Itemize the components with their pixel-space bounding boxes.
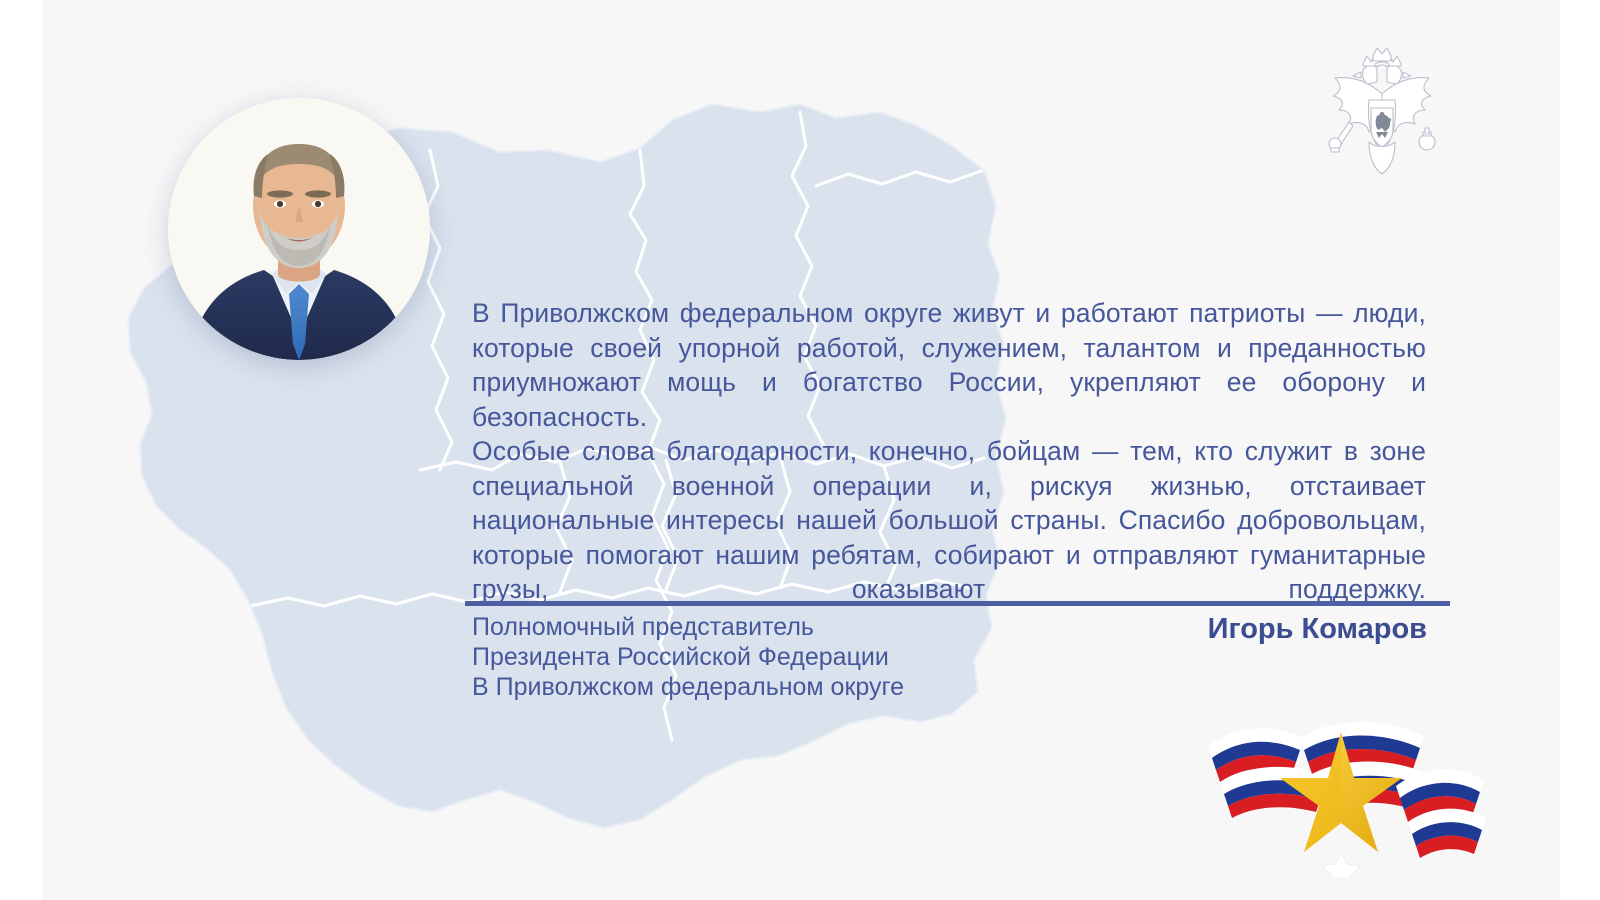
signatory-title-line-2: Президента Российской Федерации (472, 642, 904, 672)
poster-canvas: В Приволжском федеральном округе живут и… (0, 0, 1600, 900)
signatory-title-line-1: Полномочный представитель (472, 612, 904, 642)
left-margin-strip (0, 0, 42, 900)
signatory-name: Игорь Комаров (1208, 612, 1427, 644)
signature-block: Полномочный представитель Президента Рос… (472, 612, 1427, 702)
quote-paragraph-1: В Приволжском федеральном округе живут и… (472, 296, 1426, 434)
portrait-photo (168, 98, 430, 360)
russian-coat-of-arms-icon (1319, 48, 1445, 186)
right-margin-strip (1560, 0, 1600, 900)
quote-paragraph-2: Особые слова благодарности, конечно, бой… (472, 434, 1426, 641)
victory-ribbon-star-icon (1196, 702, 1486, 877)
quote-block: В Приволжском федеральном округе живут и… (472, 296, 1426, 641)
signatory-title-line-3: В Приволжском федеральном округе (472, 672, 904, 702)
signature-divider (465, 601, 1450, 606)
signatory-title: Полномочный представитель Президента Рос… (472, 612, 904, 702)
